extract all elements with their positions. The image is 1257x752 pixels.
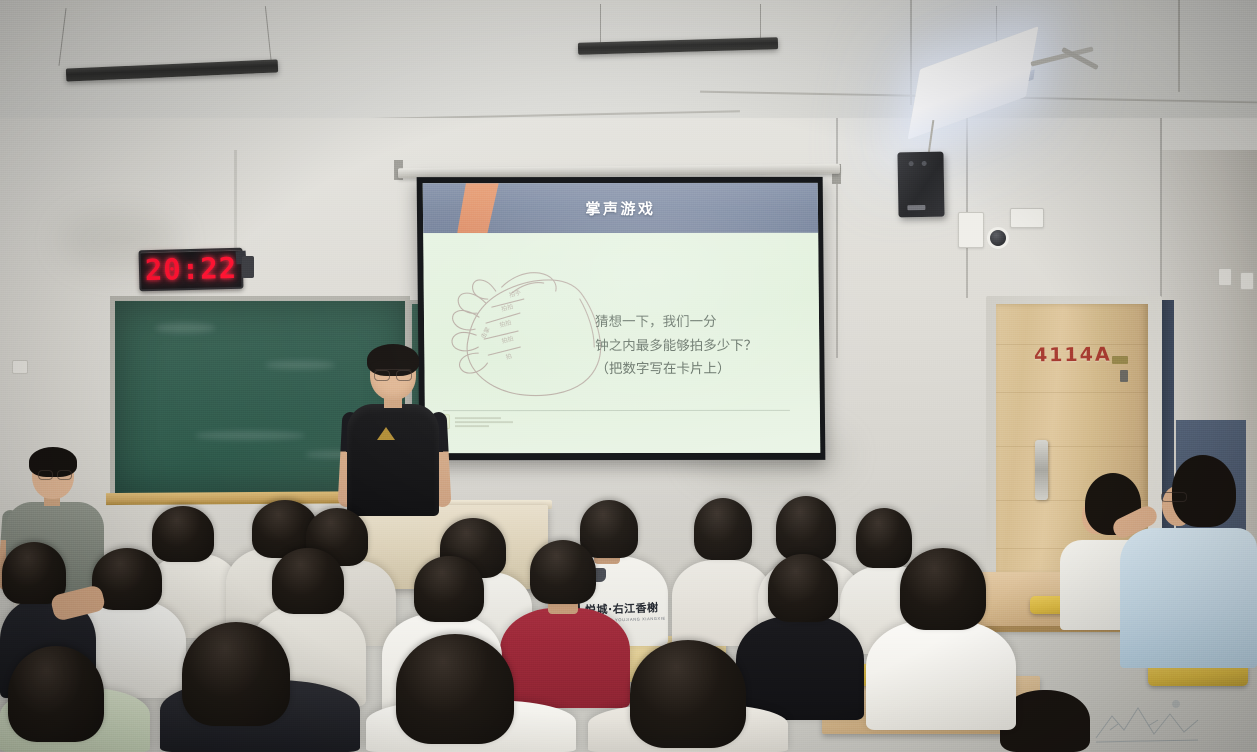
presenter-shirt: [347, 404, 439, 516]
slide-question-text: 猜想一下，我们一分 钟之内最多能够拍多少下？ （把数字写在卡片上）: [595, 311, 808, 382]
ceiling-seam: [1178, 0, 1180, 92]
wall-switch-plate[interactable]: [958, 212, 984, 248]
door-lock-plate[interactable]: [1120, 370, 1128, 382]
audience-head: [580, 500, 638, 558]
clock-power-box: [242, 256, 254, 278]
audience-body: [736, 616, 864, 720]
student-head: [1172, 455, 1236, 527]
svg-text:拍拍: 拍拍: [501, 334, 515, 345]
projection-screen: 掌声游戏: [417, 177, 826, 460]
slide-header-bar: 掌声游戏: [423, 183, 818, 233]
audience-head: [630, 640, 746, 748]
audience-body: [500, 608, 630, 708]
door-handle[interactable]: [1035, 440, 1048, 500]
slide-question-line: 钟之内最多能够拍多少下？: [595, 334, 807, 358]
audience-head: [152, 506, 214, 562]
light-suspension-wire: [996, 6, 997, 44]
slide-divider-rule: [443, 410, 790, 411]
shirt-triangle-logo-icon: [377, 427, 395, 440]
shirt-graphic-print: [1092, 690, 1202, 746]
slide-body: 拍手 拍拍 拍拍 拍拍 拍 击掌 猜想一下，我们一分 钟之内最多能够拍多少下？ …: [423, 233, 820, 453]
svg-text:拍手: 拍手: [508, 288, 522, 299]
classroom-photo-scene: 20:22 掌声游戏: [0, 0, 1257, 752]
audience-head: [272, 548, 344, 614]
power-socket[interactable]: [1218, 268, 1232, 286]
audience-head: [414, 556, 484, 622]
audience-body: [866, 620, 1016, 730]
audience-head: [182, 622, 290, 726]
power-socket[interactable]: [12, 360, 28, 374]
svg-text:拍拍: 拍拍: [499, 318, 513, 329]
power-socket[interactable]: [1240, 272, 1254, 290]
student-shirt: [1120, 528, 1257, 668]
audience-head: [900, 548, 986, 630]
slide-watermark: [437, 414, 513, 429]
clock-time-display: 20:22: [145, 254, 238, 285]
wall-panel-seam: [836, 118, 838, 358]
light-suspension-wire: [760, 4, 761, 42]
presentation-slide: 掌声游戏: [423, 183, 821, 453]
slide-question-line: （把数字写在卡片上）: [595, 358, 807, 382]
svg-text:拍: 拍: [505, 352, 513, 361]
wall-speaker: [897, 152, 944, 218]
ceiling-seam: [910, 0, 912, 105]
glasses-icon: [1161, 492, 1187, 502]
audience-head: [776, 496, 836, 560]
audience-head: [8, 646, 104, 742]
wall-conduit: [234, 150, 237, 255]
audience-head: [768, 554, 838, 622]
room-number-label: 4114A: [1034, 344, 1112, 367]
audience-head: [396, 634, 514, 744]
watermark-lines: [455, 417, 513, 427]
glasses-icon: [374, 369, 412, 378]
audience-head: [530, 540, 596, 604]
wall-sensor-icon: [990, 230, 1006, 246]
wall-panel-seam: [966, 118, 968, 298]
audience-head: [694, 498, 752, 560]
audience-head: [856, 508, 912, 568]
glasses-icon: [38, 470, 72, 478]
slide-title: 掌声游戏: [585, 197, 655, 218]
light-suspension-wire: [600, 4, 601, 44]
door-sign-plate: [1112, 356, 1128, 364]
slide-question-line: 猜想一下，我们一分: [595, 311, 807, 335]
wall-plate[interactable]: [1010, 208, 1044, 228]
led-wall-clock: 20:22: [139, 248, 244, 292]
slide-accent-shape: [457, 183, 499, 233]
